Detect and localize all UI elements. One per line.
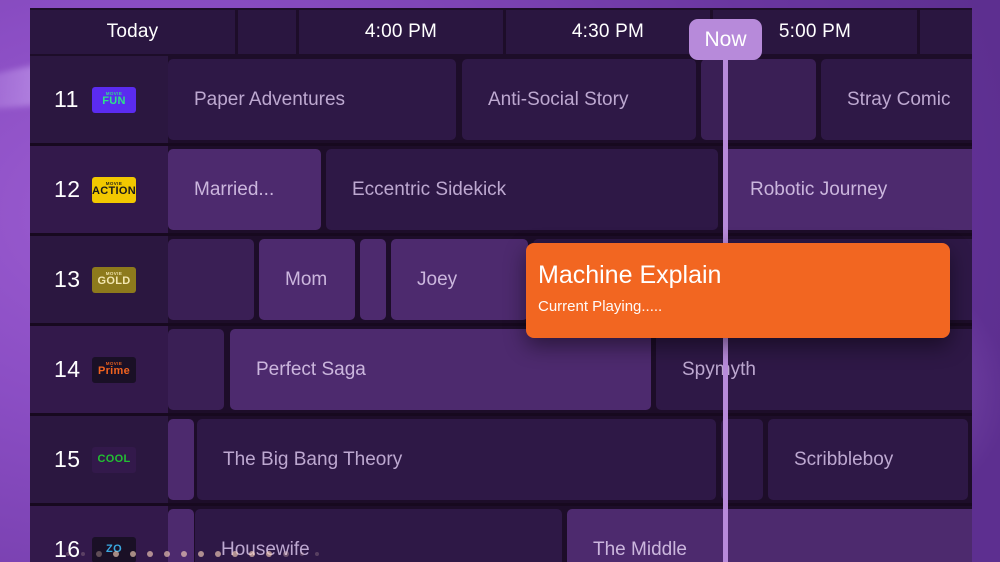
page-dot[interactable] — [147, 551, 153, 557]
page-dot[interactable] — [266, 551, 272, 557]
channel-row: 11MOVIEFUNPaper AdventuresAnti-Social St… — [30, 56, 972, 143]
channel-header-15[interactable]: 15COOL — [30, 416, 168, 503]
program-cell[interactable]: Robotic Journey — [724, 149, 972, 230]
page-dot[interactable] — [113, 551, 119, 557]
channel-programs: Perfect SagaSpymyth — [168, 326, 972, 413]
current-playing-title: Machine Explain — [538, 261, 950, 290]
current-playing-subtitle: Current Playing..... — [538, 298, 950, 315]
program-cell[interactable]: Eccentric Sidekick — [326, 149, 718, 230]
channel-number: 14 — [54, 356, 76, 383]
program-cell[interactable]: Married... — [168, 149, 321, 230]
time-slot-3[interactable]: 5:30 PM — [920, 10, 972, 54]
program-cell[interactable] — [168, 419, 194, 500]
channel-number: 16 — [54, 536, 76, 562]
program-cell[interactable] — [168, 239, 254, 320]
program-cell[interactable]: The Big Bang Theory — [197, 419, 716, 500]
program-cell[interactable]: Anti-Social Story — [462, 59, 696, 140]
page-dot[interactable] — [66, 552, 70, 556]
channel-logo-tagline: MOVIE — [106, 182, 123, 187]
page-dot[interactable] — [130, 551, 136, 557]
page-dot[interactable] — [164, 551, 170, 557]
tv-guide-panel: Today 4:00 PM 4:30 PM 5:00 PM 5:30 PM 11… — [30, 8, 972, 562]
program-cell[interactable]: Perfect Saga — [230, 329, 651, 410]
cool-channel-logo: COOL — [92, 447, 136, 473]
page-dot[interactable] — [315, 552, 319, 556]
channel-programs: Paper AdventuresAnti-Social StoryStray C… — [168, 56, 972, 143]
now-indicator-pill[interactable]: Now — [689, 19, 762, 60]
program-cell[interactable] — [360, 239, 386, 320]
channel-logo-name: COOL — [98, 454, 131, 465]
channel-number: 15 — [54, 446, 76, 473]
program-cell[interactable] — [701, 59, 816, 140]
page-dot[interactable] — [181, 551, 187, 557]
program-cell[interactable]: Spymyth — [656, 329, 972, 410]
channel-number: 12 — [54, 176, 76, 203]
channel-row: 12MOVIEACTIONMarried...Eccentric Sidekic… — [30, 146, 972, 233]
program-cell[interactable] — [168, 329, 224, 410]
program-cell[interactable]: Scribbleboy — [768, 419, 968, 500]
channel-row: 15COOLThe Big Bang TheoryScribbleboy — [30, 416, 972, 503]
fun-channel-logo: MOVIEFUN — [92, 87, 136, 113]
page-dot[interactable] — [198, 551, 204, 557]
channel-header-12[interactable]: 12MOVIEACTION — [30, 146, 168, 233]
page-dot[interactable] — [283, 551, 289, 557]
time-slot-1[interactable]: 4:30 PM — [506, 10, 710, 54]
zoom-channel-logo: ZO — [92, 537, 136, 562]
channel-logo-name: FUN — [102, 96, 126, 107]
channel-programs: The Big Bang TheoryScribbleboy — [168, 416, 972, 503]
channel-number: 13 — [54, 266, 76, 293]
channel-logo-name: ACTION — [92, 186, 136, 197]
channel-logo-tagline: MOVIE — [106, 92, 123, 97]
timeline-spacer — [238, 10, 296, 54]
time-slot-0[interactable]: 4:00 PM — [299, 10, 503, 54]
channel-logo-tagline: MOVIE — [106, 272, 123, 277]
page-dot[interactable] — [96, 551, 102, 557]
program-cell[interactable]: Paper Adventures — [168, 59, 456, 140]
channel-number: 11 — [54, 86, 76, 113]
gold-channel-logo: MOVIEGOLD — [92, 267, 136, 293]
program-cell[interactable]: Joey — [391, 239, 528, 320]
channel-header-14[interactable]: 14MOVIEPrime — [30, 326, 168, 413]
current-playing-card[interactable]: Machine Explain Current Playing..... — [526, 243, 950, 338]
program-cell[interactable]: The Middle — [567, 509, 972, 562]
channel-logo-tagline: MOVIE — [106, 362, 123, 367]
page-dot[interactable] — [81, 552, 85, 556]
channel-header-13[interactable]: 13MOVIEGOLD — [30, 236, 168, 323]
page-dot[interactable] — [249, 551, 255, 557]
page-indicator-dots[interactable] — [66, 551, 319, 557]
channel-logo-name: Prime — [98, 366, 130, 377]
prime-channel-logo: MOVIEPrime — [92, 357, 136, 383]
page-dot[interactable] — [300, 552, 304, 556]
timeline-header: Today 4:00 PM 4:30 PM 5:00 PM 5:30 PM — [30, 8, 972, 56]
channel-row: 14MOVIEPrimePerfect SagaSpymyth — [30, 326, 972, 413]
action-channel-logo: MOVIEACTION — [92, 177, 136, 203]
channel-header-11[interactable]: 11MOVIEFUN — [30, 56, 168, 143]
channel-logo-name: GOLD — [98, 276, 131, 287]
page-dot[interactable] — [232, 551, 238, 557]
program-cell[interactable]: Mom — [259, 239, 355, 320]
channel-programs: Married...Eccentric SidekickRobotic Jour… — [168, 146, 972, 233]
today-label: Today — [30, 10, 235, 54]
page-dot[interactable] — [215, 551, 221, 557]
program-cell[interactable]: Stray Comic — [821, 59, 972, 140]
